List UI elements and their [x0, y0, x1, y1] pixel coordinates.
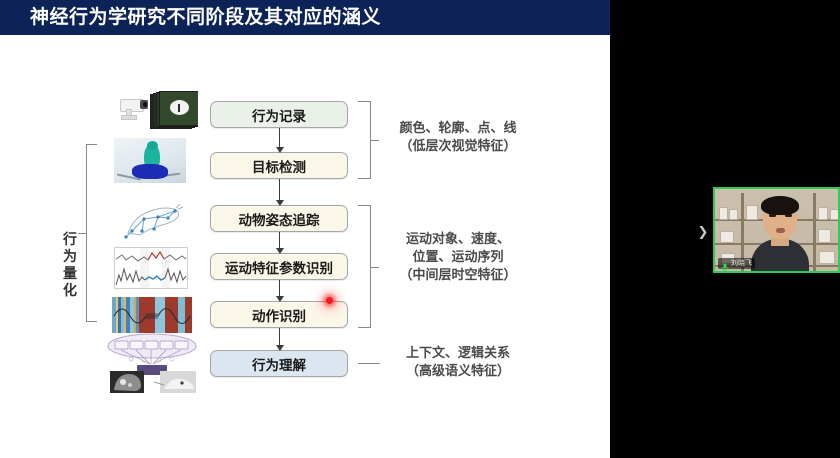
flow-box-action-recognition[interactable]: 动作识别	[210, 301, 348, 328]
flow-arrow-1	[279, 128, 280, 152]
behavior-network-diagram-thumbnail	[104, 333, 200, 395]
shelf-item-6	[720, 231, 734, 243]
mouse-segmentation-thumbnail	[114, 138, 186, 183]
participant-eye-left	[769, 214, 776, 217]
slide-title-bar: 神经行为学研究不同阶段及其对应的涵义	[0, 0, 610, 35]
annotation-mid-level-line3: （中间层时空特征）	[378, 266, 538, 284]
shelf-post-2	[813, 193, 816, 273]
annotation-low-level: 颜色、轮廓、点、线 （低层次视觉特征）	[378, 119, 538, 155]
shelf-item-4	[818, 207, 828, 220]
collapse-panel-arrow-icon[interactable]: ❯	[697, 224, 709, 240]
annotation-high-level: 上下文、逻辑关系 （高级语义特征）	[378, 344, 538, 380]
slide-title: 神经行为学研究不同阶段及其对应的涵义	[30, 4, 590, 32]
shelf-item-8	[819, 251, 835, 264]
participant-name: 刘晓飞	[731, 259, 752, 268]
annotation-low-level-line3: （低层次视觉特征）	[378, 137, 538, 155]
annotation-mid-level-line2: 位置、运动序列	[378, 248, 538, 266]
motion-trace-plot-thumbnail	[114, 247, 188, 289]
annotation-high-level-line1: 上下文、逻辑关系	[378, 344, 538, 362]
flow-arrow-2	[279, 179, 280, 205]
shelf-item-7	[818, 229, 831, 243]
bracket-high-level	[358, 363, 380, 364]
laser-pointer-dot	[326, 297, 333, 304]
participant-name-badge: 刘晓飞	[718, 258, 755, 269]
flow-box-behavior-recording[interactable]: 行为记录	[210, 101, 348, 128]
presentation-slide: 神经行为学研究不同阶段及其对应的涵义 行为量化	[0, 0, 610, 458]
shelf-item-2	[729, 209, 738, 220]
flow-box-behavior-understanding[interactable]: 行为理解	[210, 350, 348, 377]
left-brace	[86, 144, 97, 322]
participant-hair	[761, 196, 799, 215]
annotation-mid-level: 运动对象、速度、 位置、运动序列 （中间层时空特征）	[378, 230, 538, 284]
annotation-mid-level-line1: 运动对象、速度、	[378, 230, 538, 248]
flow-box-pose-tracking[interactable]: 动物姿态追踪	[210, 205, 348, 232]
flow-box-object-detection[interactable]: 目标检测	[210, 152, 348, 179]
participant-video-tile[interactable]: 刘晓飞	[713, 187, 840, 273]
slide-content: 行为量化	[0, 35, 610, 458]
screen-share-view: 神经行为学研究不同阶段及其对应的涵义 行为量化	[0, 0, 840, 458]
behavior-quantification-label: 行为量化	[60, 231, 80, 299]
participant-eye-right	[785, 214, 792, 217]
participant-mouth	[776, 228, 785, 233]
flow-arrow-3	[279, 232, 280, 253]
microphone-icon	[721, 259, 729, 268]
annotation-high-level-line3: （高级语义特征）	[378, 362, 538, 380]
shelf-item-3	[746, 205, 758, 220]
flow-arrow-5	[279, 328, 280, 350]
ethogram-strip-thumbnail	[112, 297, 192, 335]
pose-skeleton-thumbnail	[118, 197, 186, 241]
flow-box-motion-feature-id[interactable]: 运动特征参数识别	[210, 253, 348, 280]
camera-and-video-frames-thumbnail	[110, 91, 198, 131]
left-brace-tick	[78, 233, 87, 234]
bracket-mid-level	[358, 205, 371, 328]
bracket-low-level	[358, 101, 371, 179]
shelf-item-1	[719, 207, 728, 220]
annotation-low-level-line1: 颜色、轮廓、点、线	[378, 119, 538, 137]
flow-arrow-4	[279, 280, 280, 301]
shelf-item-5	[830, 209, 839, 220]
